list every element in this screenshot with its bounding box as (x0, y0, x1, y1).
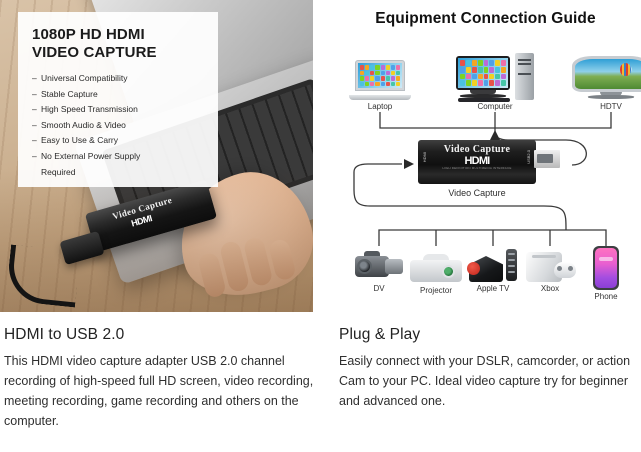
feature-block-right: Plug & Play Easily connect with your DSL… (339, 326, 635, 411)
list-item: –Easy to Use & Carry (32, 133, 206, 149)
device-label: Computer (456, 102, 534, 111)
product-photo: Video Capture HDMI 1080P HD HDMI VIDEO C… (0, 0, 313, 312)
feature-block-left: HDMI to USB 2.0 This HDMI video capture … (4, 326, 316, 431)
apple-tv-icon (469, 248, 517, 282)
arrowhead-to-capture (404, 159, 414, 169)
device-label: HDTV (572, 102, 641, 111)
device-label: Apple TV (469, 284, 517, 293)
overlay-title-line1: 1080P HD HDMI (32, 26, 145, 43)
device-hdtv: HDTV (572, 56, 641, 111)
desktop-computer-icon (456, 56, 534, 100)
capture-device-body: Video Capture HDMI HIGH DEFINITION MULTI… (418, 140, 536, 184)
device-projector: Projector (410, 254, 462, 295)
device-phone: Phone (593, 246, 619, 301)
feature-body: Easily connect with your DSLR, camcorder… (339, 351, 635, 411)
pc-tower (515, 53, 534, 100)
list-item: –Smooth Audio & Video (32, 118, 206, 134)
capture-device: Video Capture HDMI HIGH DEFINITION MULTI… (418, 140, 558, 184)
usb-connector (534, 150, 560, 168)
laptop-screen (358, 63, 402, 88)
list-item-continuation: Required (32, 165, 206, 181)
left-column: Video Capture HDMI 1080P HD HDMI VIDEO C… (0, 0, 330, 452)
overlay-title: 1080P HD HDMI VIDEO CAPTURE (32, 26, 206, 62)
right-column: Equipment Connection Guide (330, 0, 641, 452)
feature-text: Smooth Audio & Video (41, 120, 126, 130)
feature-text: Universal Compatibility (41, 73, 127, 83)
capture-fine-print: HIGH DEFINITION MULTIMEDIA INTERFACE (418, 166, 536, 170)
tv-screen (575, 59, 641, 89)
device-laptop: Laptop (349, 60, 411, 111)
monitor-screen (458, 58, 508, 88)
feature-text: Stable Capture (41, 89, 98, 99)
overlay-feature-list: –Universal Compatibility –Stable Capture… (32, 71, 206, 180)
device-label: Projector (410, 286, 462, 295)
arrowhead-to-display (490, 130, 500, 140)
feature-heading: Plug & Play (339, 326, 635, 344)
balloon-graphic (620, 63, 631, 76)
camcorder-icon (355, 250, 403, 282)
hdtv-icon (572, 56, 641, 100)
capture-input-port-label: HDMI (422, 152, 427, 162)
feature-text: High Speed Transmission (41, 104, 138, 114)
feature-overlay-card: 1080P HD HDMI VIDEO CAPTURE –Universal C… (18, 12, 218, 187)
overlay-title-line2: VIDEO CAPTURE (32, 44, 157, 61)
device-label: DV (355, 284, 403, 293)
feature-text: Easy to Use & Carry (41, 135, 118, 145)
xbox-console-icon (524, 250, 576, 282)
device-label: Phone (593, 292, 619, 301)
list-item: –High Speed Transmission (32, 102, 206, 118)
projector-icon (410, 254, 462, 284)
device-dv: DV (355, 250, 403, 293)
laptop-icon (349, 60, 411, 100)
device-apple-tv: Apple TV (469, 248, 517, 293)
feature-text: No External Power Supply (41, 151, 140, 161)
smartphone-icon (593, 246, 619, 290)
device-label: Xbox (524, 284, 576, 293)
capture-device-caption: Video Capture (418, 188, 536, 198)
list-item: –Universal Compatibility (32, 71, 206, 87)
product-feature-page: Video Capture HDMI 1080P HD HDMI VIDEO C… (0, 0, 641, 452)
device-xbox: Xbox (524, 250, 576, 293)
capture-brand-text: Video Capture (418, 144, 536, 155)
feature-text: Required (41, 167, 76, 177)
list-item: –Stable Capture (32, 87, 206, 103)
feature-heading: HDMI to USB 2.0 (4, 326, 316, 344)
device-label: Laptop (349, 102, 411, 111)
feature-body: This HDMI video capture adapter USB 2.0 … (4, 351, 316, 431)
capture-output-port-label: USB2.0 (526, 150, 531, 164)
list-item: –No External Power Supply (32, 149, 206, 165)
connection-diagram: Equipment Connection Guide (330, 0, 641, 312)
device-computer: Computer (456, 56, 534, 111)
